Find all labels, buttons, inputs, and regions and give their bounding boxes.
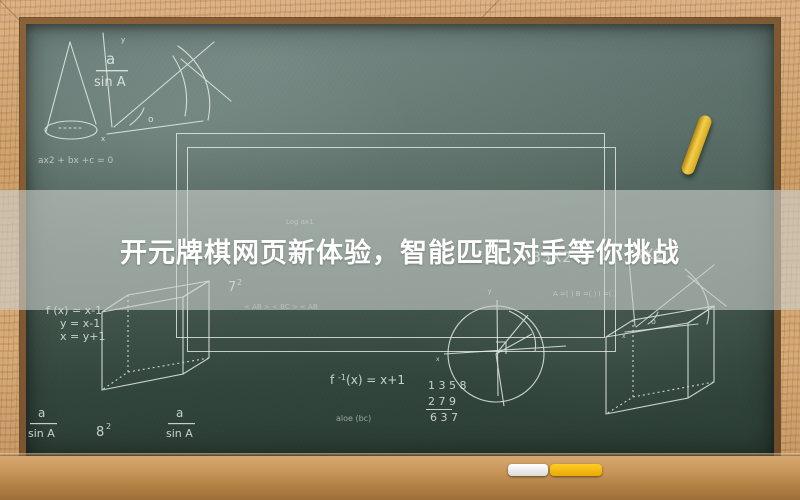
yellow-chalk-icon <box>550 464 602 476</box>
headline-band: 开元牌棋网页新体验，智能匹配对手等你挑战 <box>0 190 800 310</box>
chalkboard-banner: a sin A y x o ax2 + bx +c = 0 <box>0 0 800 500</box>
page-title: 开元牌棋网页新体验，智能匹配对手等你挑战 <box>120 231 680 270</box>
white-chalk-icon <box>508 464 548 476</box>
chalk-ledge <box>0 456 800 500</box>
